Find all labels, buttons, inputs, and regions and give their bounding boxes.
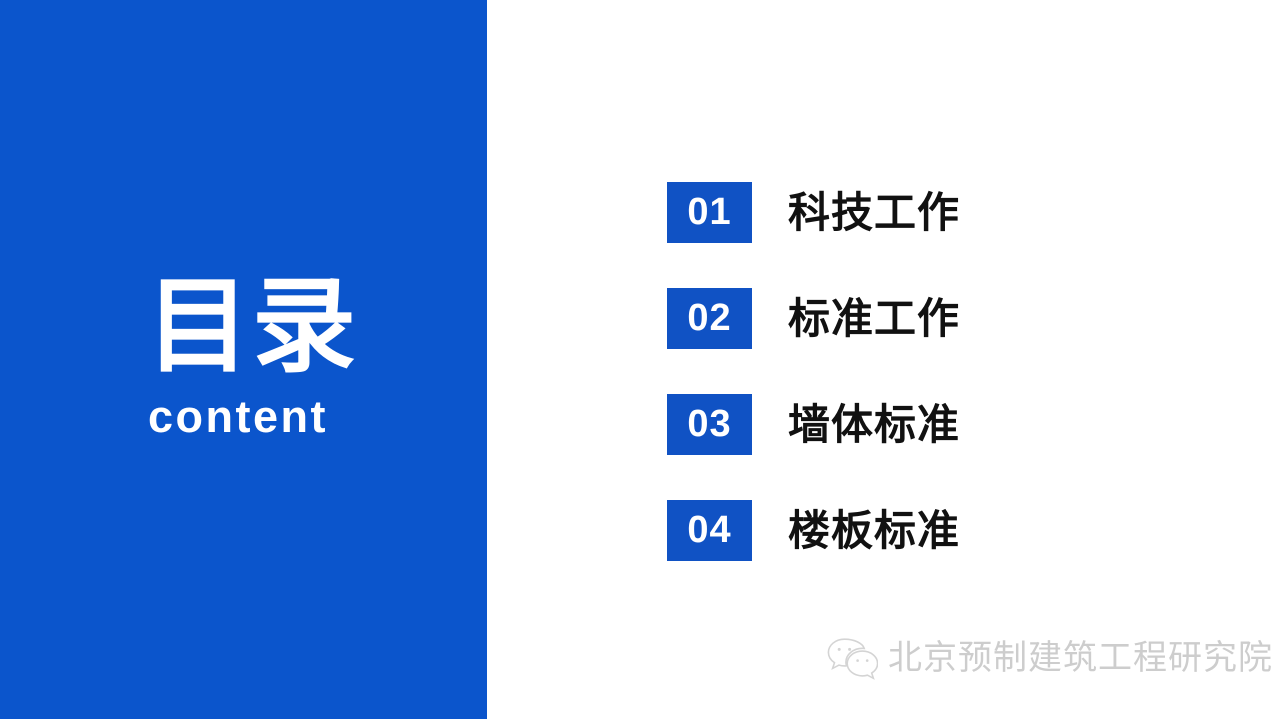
left-blue-panel: 目录 content: [0, 0, 487, 719]
toc-number-badge: 01: [667, 182, 752, 243]
wechat-icon: [826, 636, 878, 680]
table-of-contents-list: 01 科技工作 02 标准工作 03 墙体标准 04 楼板标准: [667, 182, 960, 561]
page-subtitle: content: [0, 394, 487, 439]
toc-item-label: 标准工作: [788, 298, 960, 340]
list-item[interactable]: 04 楼板标准: [667, 500, 960, 561]
list-item[interactable]: 03 墙体标准: [667, 394, 960, 455]
toc-item-label: 墙体标准: [788, 404, 960, 446]
list-item[interactable]: 02 标准工作: [667, 288, 960, 349]
page-title: 目录: [0, 272, 487, 380]
toc-item-label: 楼板标准: [788, 510, 960, 552]
watermark: 北京预制建筑工程研究院: [826, 636, 1273, 680]
toc-item-label: 科技工作: [788, 192, 960, 234]
list-item[interactable]: 01 科技工作: [667, 182, 960, 243]
watermark-text: 北京预制建筑工程研究院: [888, 641, 1273, 675]
slide-root: 目录 content 01 科技工作 02 标准工作 03 墙体标准 04 楼板…: [0, 0, 1280, 719]
toc-number-badge: 04: [667, 500, 752, 561]
panel-title-block: 目录 content: [0, 272, 487, 439]
toc-number-badge: 02: [667, 288, 752, 349]
toc-number-badge: 03: [667, 394, 752, 455]
